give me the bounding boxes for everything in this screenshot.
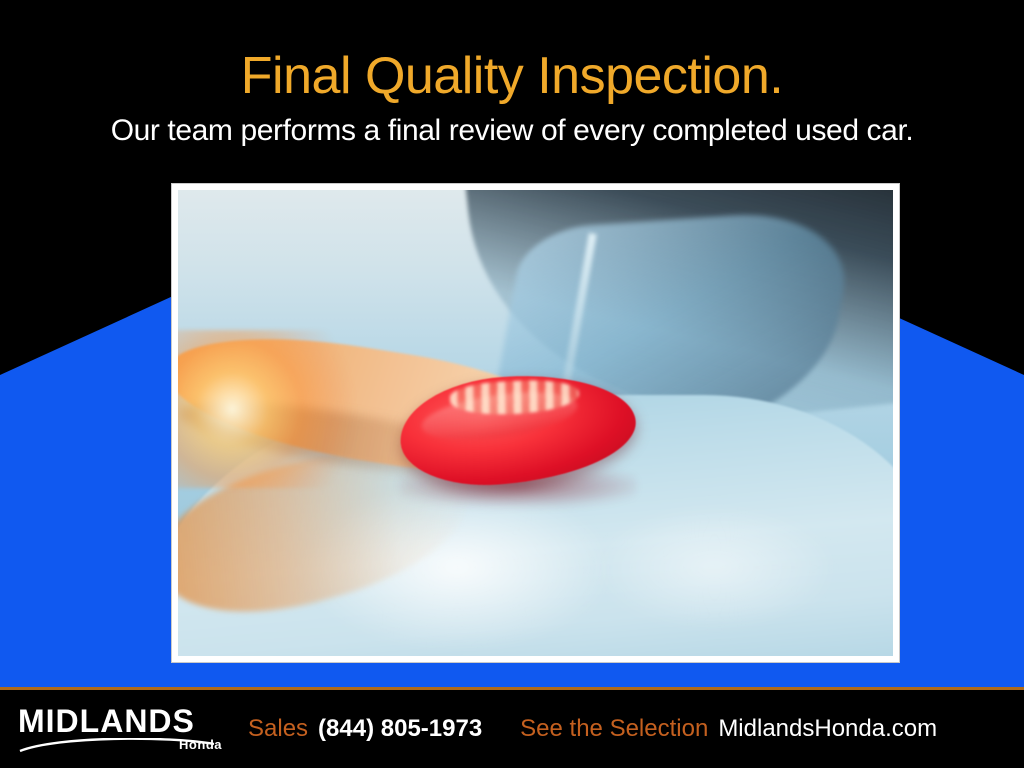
page-subtitle: Our team performs a final review of ever… xyxy=(0,114,1024,148)
slide-canvas: Final Quality Inspection. Our team perfo… xyxy=(0,0,1024,768)
dealer-logo-swoosh: Honda xyxy=(18,738,248,754)
photo-hood-glow-secondary xyxy=(593,507,836,628)
sales-label: Sales xyxy=(248,715,308,743)
page-title: Final Quality Inspection. xyxy=(0,49,1024,104)
photo-frame xyxy=(172,184,899,662)
hero-photo xyxy=(178,190,893,656)
dealer-logo[interactable]: MIDLANDS Honda xyxy=(0,705,248,754)
see-selection-label: See the Selection xyxy=(520,715,708,743)
website-link[interactable]: MidlandsHonda.com xyxy=(718,715,937,743)
footer-bar: MIDLANDS Honda Sales (844) 805-1973 See … xyxy=(0,687,1024,768)
dealer-logo-word: MIDLANDS xyxy=(18,705,248,737)
phone-number[interactable]: (844) 805-1973 xyxy=(318,715,482,743)
footer-contact: Sales (844) 805-1973 See the Selection M… xyxy=(248,715,937,743)
photo-sun-flare xyxy=(178,330,378,488)
dealer-logo-subtext: Honda xyxy=(179,737,222,752)
